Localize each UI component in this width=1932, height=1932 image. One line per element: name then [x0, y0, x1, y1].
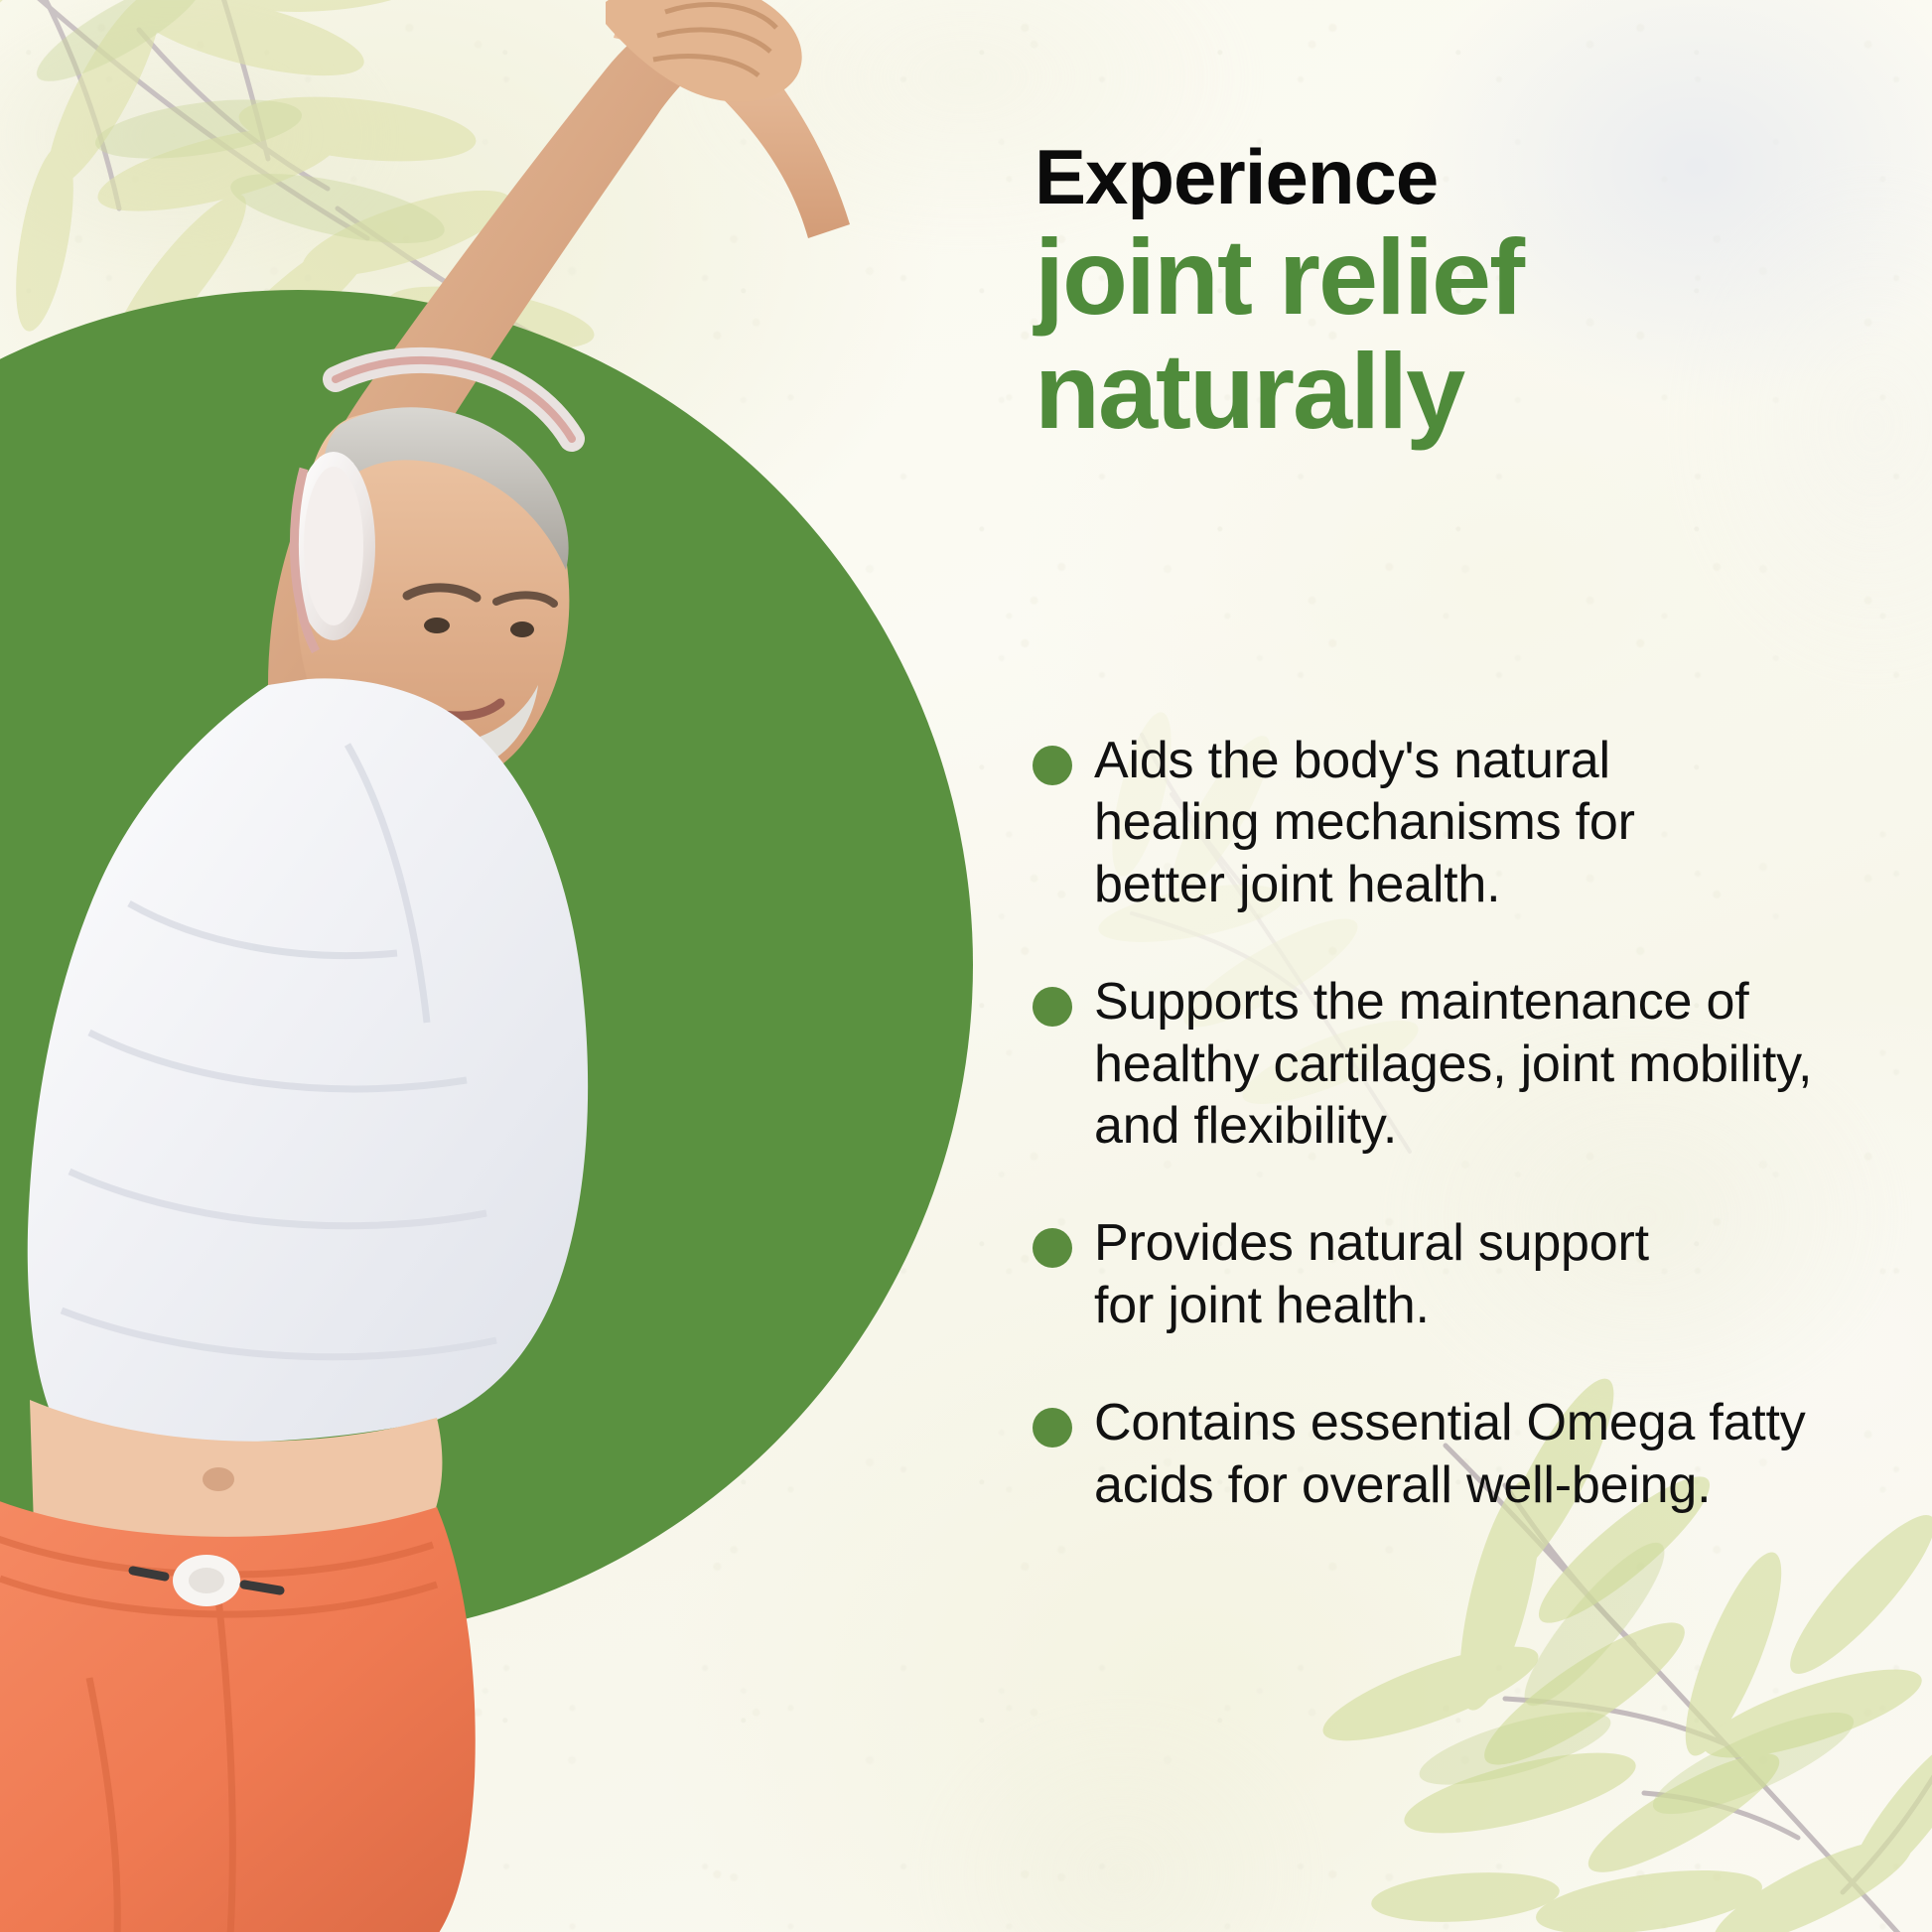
person-photo: [0, 0, 864, 1932]
bullet-text: Aids the body's natural healing mechanis…: [1094, 730, 1690, 915]
bullet-dot-icon: [1033, 987, 1072, 1027]
shorts: [0, 1499, 476, 1932]
bullet-dot-icon: [1033, 1228, 1072, 1268]
list-item: Contains essential Omega fatty acids for…: [1033, 1392, 1916, 1516]
kicker-text: Experience: [1035, 139, 1906, 214]
bullet-text: Provides natural support for joint healt…: [1094, 1212, 1700, 1336]
list-item: Supports the maintenance of healthy cart…: [1033, 971, 1916, 1157]
list-item: Aids the body's natural healing mechanis…: [1033, 730, 1916, 915]
benefits-list: Aids the body's natural healing mechanis…: [1033, 730, 1916, 1516]
bullet-text: Supports the maintenance of healthy cart…: [1094, 971, 1878, 1157]
bullet-text: Contains essential Omega fatty acids for…: [1094, 1392, 1868, 1516]
bullet-dot-icon: [1033, 1408, 1072, 1448]
title-line-2: naturally: [1035, 337, 1906, 446]
bullet-dot-icon: [1033, 746, 1072, 785]
promo-poster: Experience joint relief naturally Aids t…: [0, 0, 1932, 1932]
headline-block: Experience joint relief naturally: [1033, 139, 1906, 450]
title-line-1: joint relief: [1035, 222, 1906, 332]
content-column: Experience joint relief naturally Aids t…: [1033, 0, 1906, 1932]
list-item: Provides natural support for joint healt…: [1033, 1212, 1916, 1336]
